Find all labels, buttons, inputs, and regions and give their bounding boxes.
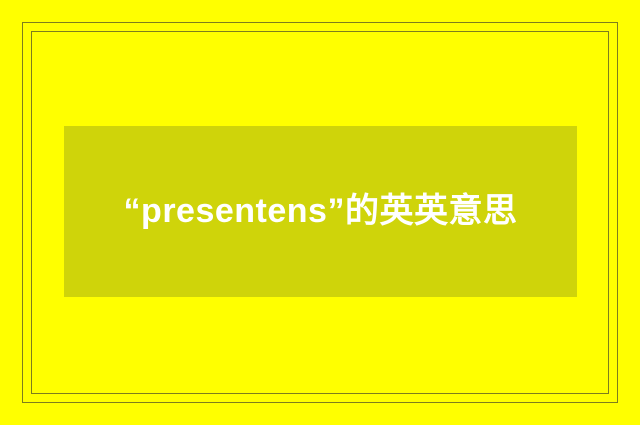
page-title: “presentens”的英英意思 — [124, 185, 518, 238]
title-plate: “presentens”的英英意思 — [64, 126, 577, 297]
banner-canvas: “presentens”的英英意思 — [0, 0, 640, 425]
